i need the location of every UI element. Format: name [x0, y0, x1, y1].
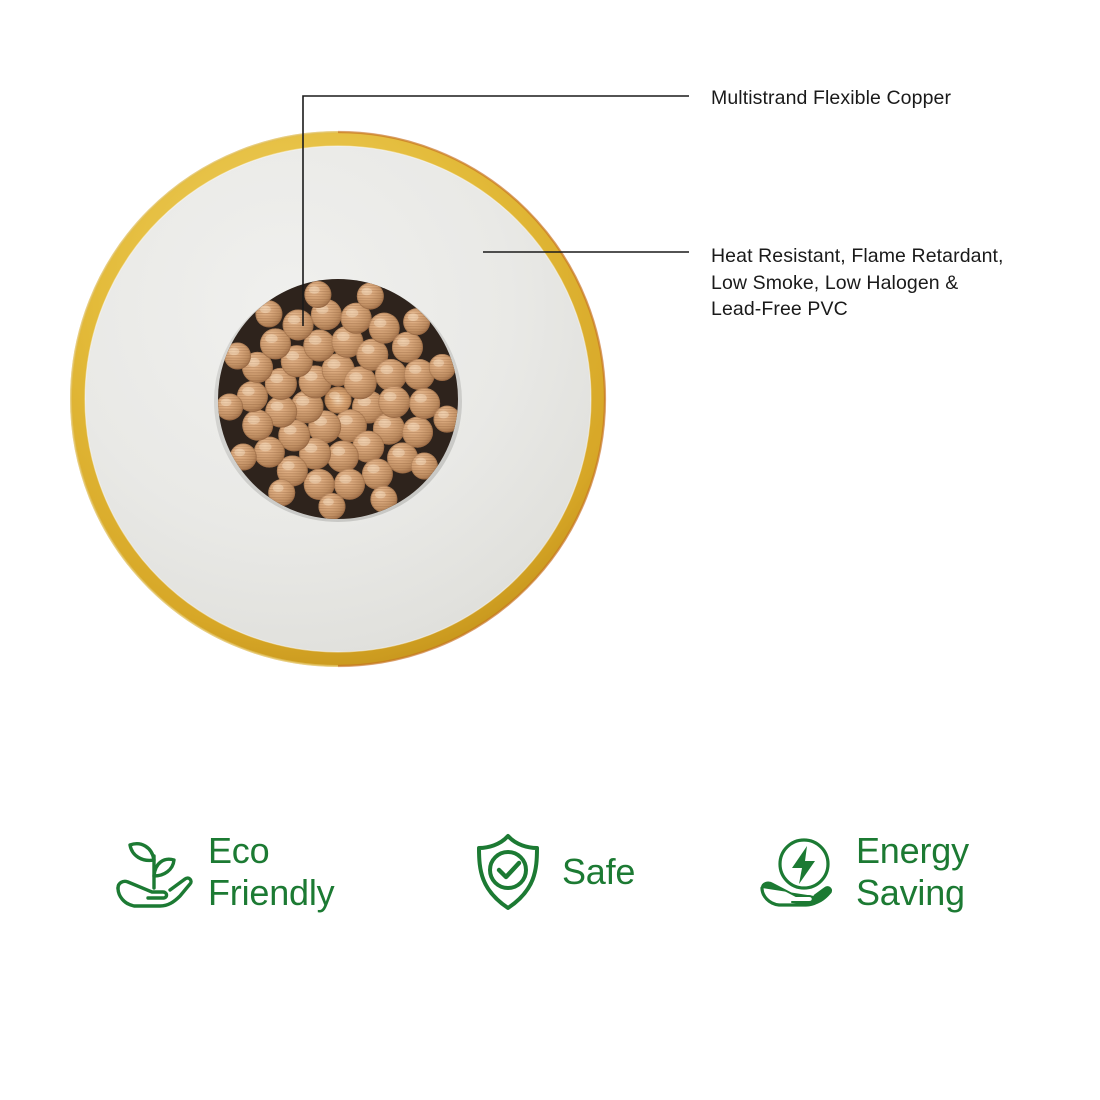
- copper-strand: [362, 459, 393, 490]
- copper-strand: [375, 359, 407, 391]
- callout-label-multistrand-copper: Multistrand Flexible Copper: [711, 85, 951, 112]
- copper-strand: [392, 332, 423, 363]
- feature-label-safe: Safe: [562, 851, 635, 893]
- feature-label-eco-friendly: Eco Friendly: [208, 830, 334, 914]
- copper-strand: [318, 493, 345, 520]
- cable-cross-section-diagram: [55, 116, 625, 686]
- hand-holding-bolt-icon: [756, 826, 848, 918]
- copper-strand: [357, 283, 384, 310]
- copper-strand: [304, 281, 331, 308]
- copper-strand: [344, 366, 377, 399]
- copper-strand: [327, 441, 359, 473]
- feature-energy-saving: Energy Saving: [756, 812, 969, 932]
- feature-eco-friendly: Eco Friendly: [108, 812, 334, 932]
- copper-strand: [242, 410, 273, 441]
- copper-strand: [254, 437, 285, 468]
- copper-strand: [378, 386, 410, 418]
- callout-label-pvc: Heat Resistant, Flame Retardant, Low Smo…: [711, 243, 1004, 323]
- copper-strand: [216, 393, 243, 420]
- copper-strand: [283, 309, 314, 340]
- hand-holding-plant-icon: [108, 826, 200, 918]
- feature-badge-row: Eco Friendly Safe: [0, 812, 1100, 942]
- shield-check-icon: [462, 826, 554, 918]
- feature-safe: Safe: [462, 812, 635, 932]
- feature-label-energy-saving: Energy Saving: [856, 830, 969, 914]
- cable-cross-section-svg: [55, 116, 625, 686]
- infographic-canvas: Multistrand Flexible Copper Heat Resista…: [0, 0, 1100, 1100]
